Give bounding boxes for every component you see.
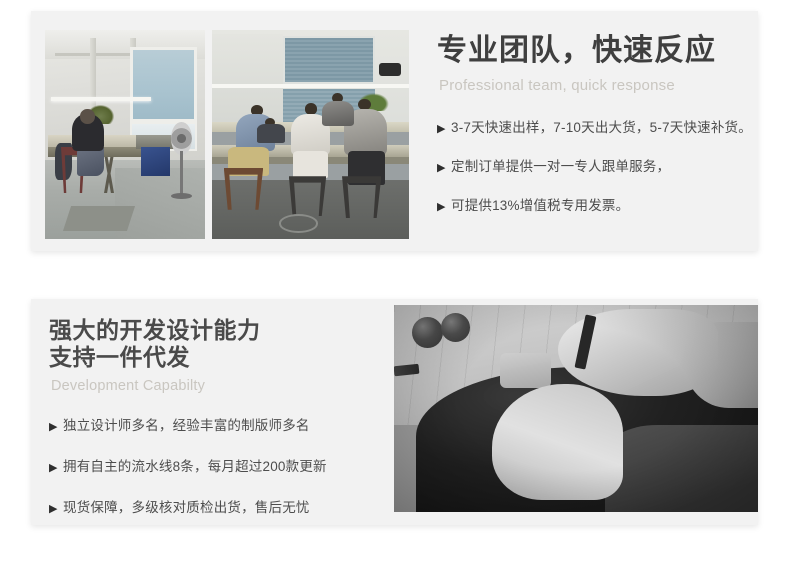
bottom-text-column: 强大的开发设计能力 支持一件代发 Development Capabilty ▶… [49, 317, 389, 537]
triangle-bullet-icon: ▶ [49, 504, 63, 515]
triangle-bullet-icon: ▶ [49, 422, 63, 433]
list-item: ▶ 3-7天快速出样，7-10天出大货，5-7天快速补货。 [437, 116, 743, 136]
bottom-bullet-list: ▶ 独立设计师多名，经验丰富的制版师多名 ▶ 拥有自主的流水线8条，每月超过20… [49, 414, 389, 516]
top-feature-panel: 专业团队，快速反应 Professional team, quick respo… [31, 11, 758, 251]
list-item-text: 现货保障，多级核对质检出货，售后无忧 [63, 496, 310, 516]
triangle-bullet-icon: ▶ [49, 463, 63, 474]
bottom-headline: 强大的开发设计能力 支持一件代发 [49, 317, 389, 371]
top-subheadline: Professional team, quick response [439, 77, 743, 94]
workshop-bench-photo [45, 30, 205, 239]
list-item-text: 拥有自主的流水线8条，每月超过200款更新 [63, 455, 327, 475]
list-item: ▶ 现货保障，多级核对质检出货，售后无忧 [49, 496, 389, 516]
bottom-headline-line2: 支持一件代发 [49, 344, 389, 371]
list-item-text: 3-7天快速出样，7-10天出大货，5-7天快速补货。 [451, 116, 752, 136]
triangle-bullet-icon: ▶ [437, 202, 451, 213]
craftsman-hands-photo [394, 305, 758, 512]
workers-row-photo [212, 30, 409, 239]
triangle-bullet-icon: ▶ [437, 124, 451, 135]
list-item-text: 定制订单提供一对一专人跟单服务， [451, 155, 670, 175]
bottom-feature-panel: 强大的开发设计能力 支持一件代发 Development Capabilty ▶… [31, 299, 758, 525]
top-headline: 专业团队，快速反应 [437, 33, 743, 68]
page-root: 专业团队，快速反应 Professional team, quick respo… [0, 0, 790, 567]
bottom-subheadline: Development Capabilty [51, 378, 389, 394]
list-item-text: 可提供13%增值税专用发票。 [451, 194, 629, 214]
list-item: ▶ 定制订单提供一对一专人跟单服务， [437, 155, 743, 175]
triangle-bullet-icon: ▶ [437, 163, 451, 174]
list-item: ▶ 拥有自主的流水线8条，每月超过200款更新 [49, 455, 389, 475]
list-item: ▶ 可提供13%增值税专用发票。 [437, 194, 743, 214]
top-text-column: 专业团队，快速反应 Professional team, quick respo… [437, 33, 743, 233]
list-item-text: 独立设计师多名，经验丰富的制版师多名 [63, 414, 310, 434]
bottom-headline-line1: 强大的开发设计能力 [49, 317, 261, 343]
list-item: ▶ 独立设计师多名，经验丰富的制版师多名 [49, 414, 389, 434]
top-bullet-list: ▶ 3-7天快速出样，7-10天出大货，5-7天快速补货。 ▶ 定制订单提供一对… [437, 116, 743, 214]
